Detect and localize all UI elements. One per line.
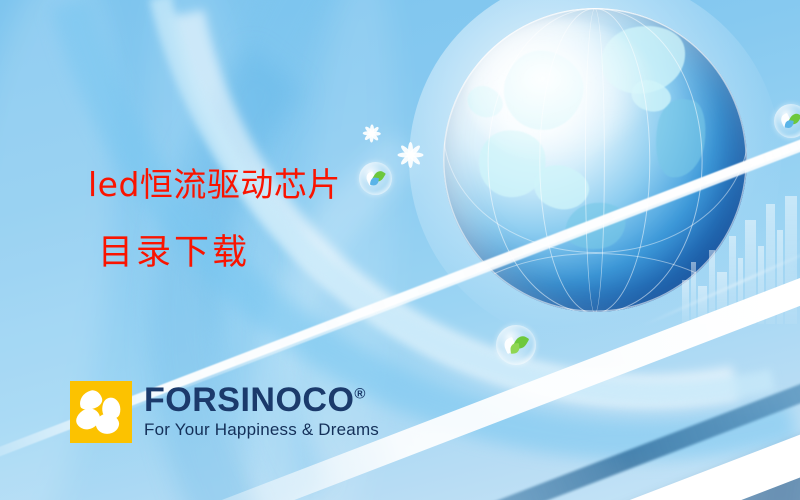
flower-pinwheel-icon: [70, 381, 132, 443]
logo-company-name: FORSINOCO: [144, 381, 354, 419]
logo-wordmark: FORSINOCO®: [144, 383, 379, 419]
headline-line-1: led恒流驱动芯片: [88, 168, 341, 201]
registered-trademark-icon: ®: [354, 386, 366, 403]
leaf-green-2: [510, 343, 520, 354]
leaf-blue: [370, 176, 379, 185]
bubble-core: [781, 111, 800, 131]
bubble-core: [366, 169, 385, 188]
banner-image: led恒流驱动芯片 目录下载 FORSINOCO® For Your Happi…: [0, 0, 800, 500]
bubble-center-low: [496, 325, 536, 365]
bubble-top-mid: [359, 162, 392, 195]
headline-line-2: 目录下载: [98, 236, 250, 271]
ribbon-wide-1: [115, 182, 800, 500]
bubble-right-edge: [774, 104, 800, 138]
logo-text-block: FORSINOCO® For Your Happiness & Dreams: [144, 383, 379, 440]
bubble-core: [504, 333, 527, 356]
leaf-blue: [784, 119, 794, 129]
company-logo: FORSINOCO® For Your Happiness & Dreams: [70, 381, 379, 443]
logo-tagline: For Your Happiness & Dreams: [144, 420, 379, 440]
